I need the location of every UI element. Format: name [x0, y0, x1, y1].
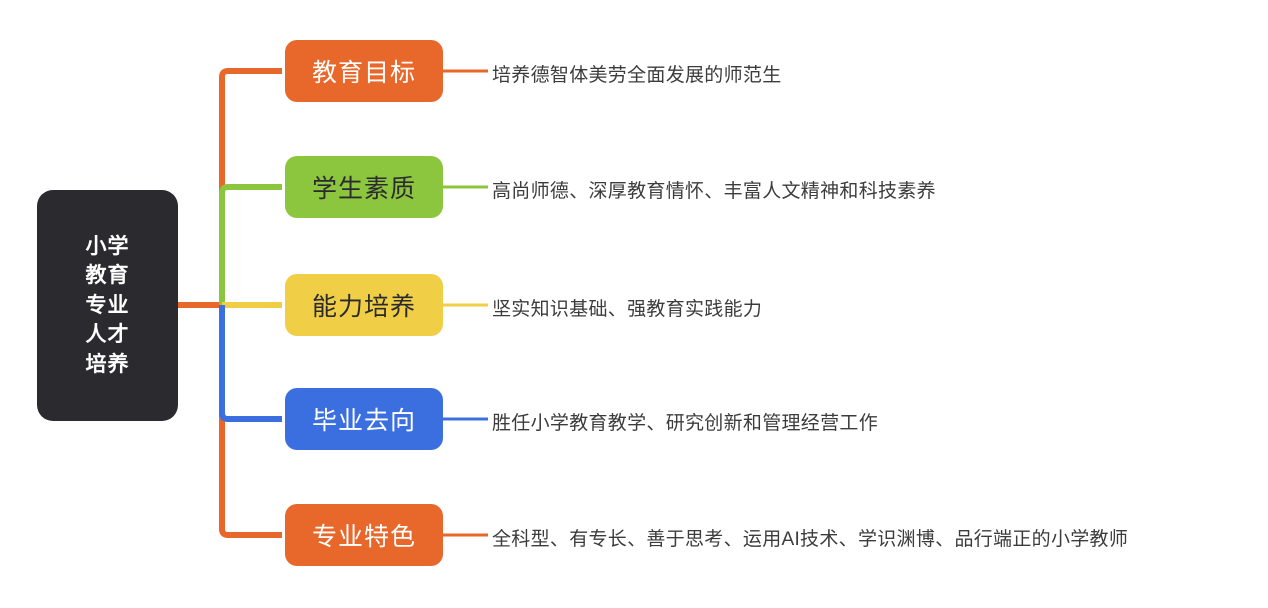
branch-node-ability-training[interactable]: 能力培养 [285, 274, 443, 336]
branch-label-5: 专业特色 [312, 517, 416, 553]
branch-node-student-quality[interactable]: 学生素质 [285, 156, 443, 218]
leaf-text-4: 胜任小学教育教学、研究创新和管理经营工作 [492, 408, 878, 435]
branch-node-education-goal[interactable]: 教育目标 [285, 40, 443, 102]
leaf-text-2: 高尚师德、深厚教育情怀、丰富人文精神和科技素养 [492, 176, 936, 203]
mindmap-canvas: 小学 教育 专业 人才 培养 教育目标 培养德智体美劳全面发展的师范生 学生素质… [0, 0, 1268, 608]
branch-label-1: 教育目标 [312, 53, 416, 89]
leaf-text-3: 坚实知识基础、强教育实践能力 [492, 294, 762, 321]
branch-label-2: 学生素质 [312, 169, 416, 205]
connector-trunk-orange [178, 305, 282, 535]
root-line-2: 教育 [86, 261, 130, 290]
root-node[interactable]: 小学 教育 专业 人才 培养 [37, 190, 178, 421]
root-line-3: 专业 [86, 291, 130, 320]
connector-branch-2 [222, 187, 282, 305]
branch-node-major-feature[interactable]: 专业特色 [285, 504, 443, 566]
root-line-4: 人才 [86, 320, 130, 349]
branch-label-3: 能力培养 [312, 287, 416, 323]
branch-label-4: 毕业去向 [312, 401, 416, 437]
leaf-text-5: 全科型、有专长、善于思考、运用AI技术、学识渊博、品行端正的小学教师 [492, 524, 1128, 551]
connector-branch-1 [222, 71, 282, 305]
root-line-5: 培养 [86, 350, 130, 379]
root-line-1: 小学 [86, 232, 130, 261]
branch-node-graduate-destination[interactable]: 毕业去向 [285, 388, 443, 450]
leaf-text-1: 培养德智体美劳全面发展的师范生 [492, 60, 782, 87]
connector-branch-4 [222, 305, 282, 419]
